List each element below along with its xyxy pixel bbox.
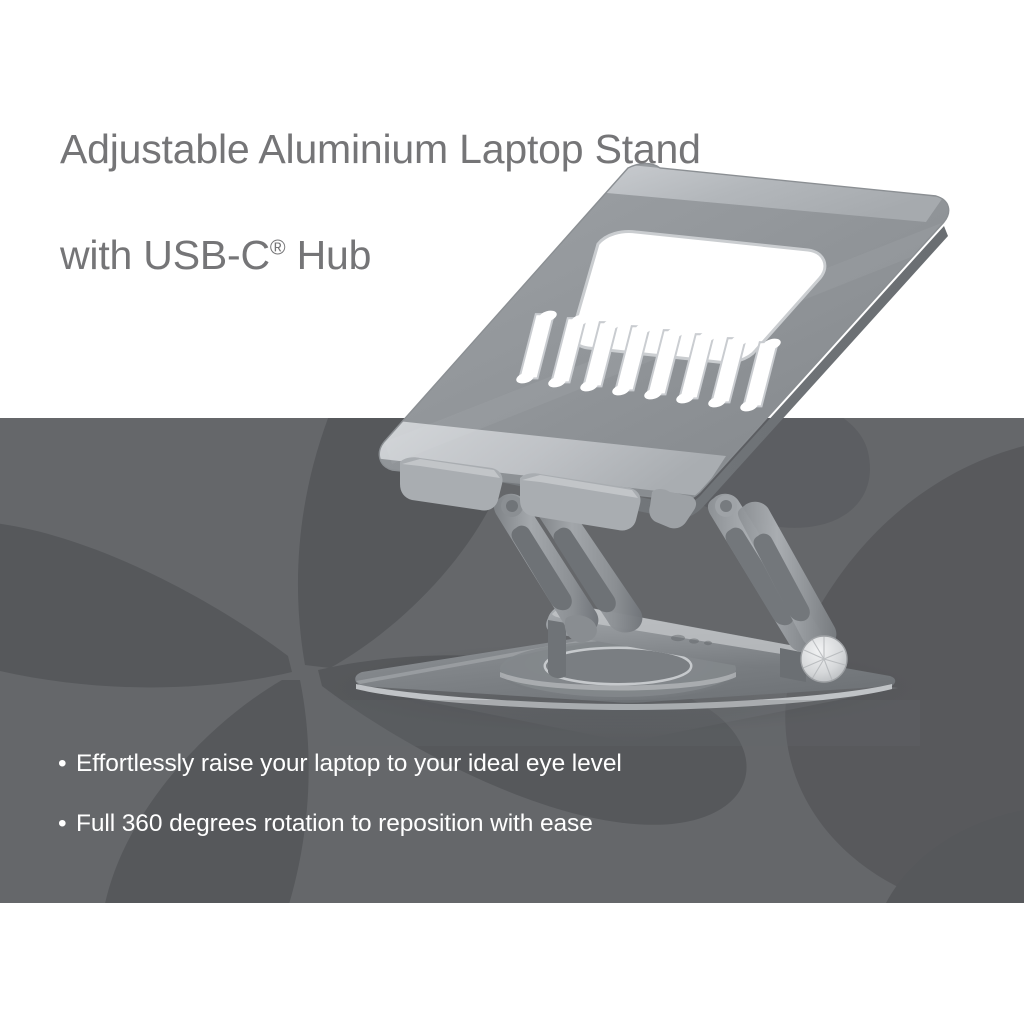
feature-bullet-list: • Effortlessly raise your laptop to your… (58, 748, 818, 840)
bullet-marker-icon: • (58, 808, 76, 840)
feature-bullet-1: • Effortlessly raise your laptop to your… (58, 748, 818, 780)
bullet-marker-icon: • (58, 748, 76, 780)
product-feature-banner: Adjustable Aluminium Laptop Stand with U… (0, 0, 1024, 1024)
title-line-2-suffix: Hub (285, 232, 371, 278)
feature-bullet-2-text: Full 360 degrees rotation to reposition … (76, 808, 818, 840)
title-line-1: Adjustable Aluminium Laptop Stand (60, 126, 701, 172)
feature-bullet-2: • Full 360 degrees rotation to repositio… (58, 808, 818, 840)
page-title: Adjustable Aluminium Laptop Stand with U… (60, 70, 940, 282)
ventilation-slots (513, 312, 784, 408)
ventilation-slot-caps (515, 309, 782, 414)
feature-bullet-1-text: Effortlessly raise your laptop to your i… (76, 748, 818, 780)
title-line-2-prefix: with USB-C (60, 232, 270, 278)
registered-trademark-icon: ® (270, 235, 286, 259)
